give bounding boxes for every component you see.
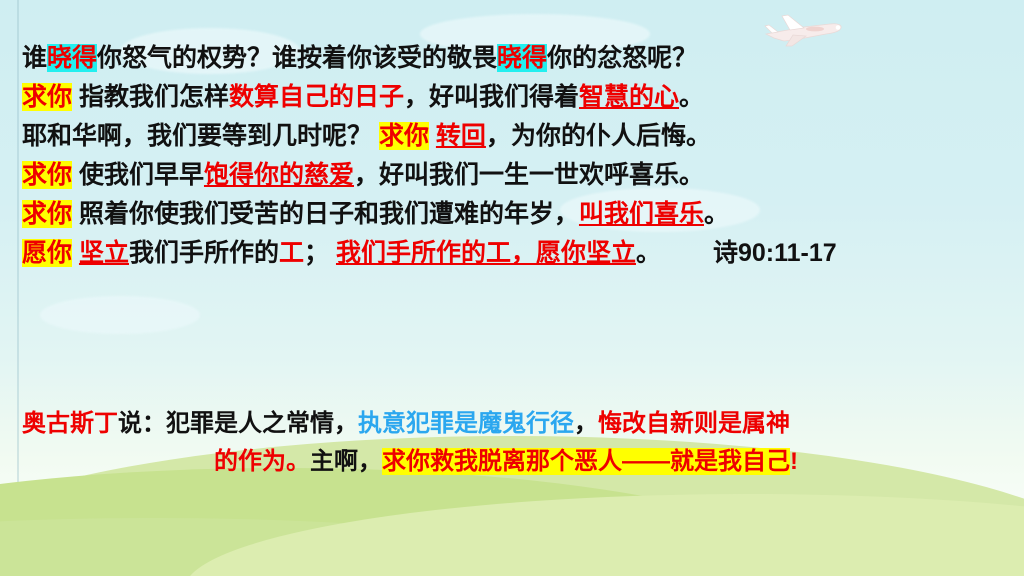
text-run: 叫我们喜乐 xyxy=(579,200,704,228)
scripture-line: 耶和华啊，我们要等到几时呢？ 求你 转回，为你的仆人后悔。 xyxy=(22,124,1012,149)
text-run: 使我们早早 xyxy=(72,161,204,189)
text-run: 悔改自新则是属神 xyxy=(598,410,790,437)
scripture-line-runs: 愿你 坚立我们手所作的工； 我们手所作的工，愿你坚立。 xyxy=(22,239,661,267)
scripture-line: 求你 使我们早早饱得你的慈爱，好叫我们一生一世欢呼喜乐。 xyxy=(22,163,1012,188)
text-run: 坚立 xyxy=(79,239,129,267)
text-run: 奥古斯丁 xyxy=(22,410,118,437)
text-run: ，为你的仆人后悔。 xyxy=(486,122,711,150)
slide-left-accent-bar xyxy=(17,0,19,510)
text-run: 饱得你的慈爱 xyxy=(204,161,354,189)
quote-text-block: 奥古斯丁说：犯罪是人之常情，执意犯罪是魔鬼行径，悔改自新则是属神 的作为。主啊，… xyxy=(22,412,1012,488)
text-run: ； xyxy=(304,239,336,267)
text-run: 求你 xyxy=(22,83,72,111)
text-run: ! xyxy=(790,448,798,475)
text-run: 求你 xyxy=(379,122,429,150)
scripture-line: 谁晓得你怒气的权势？谁按着你该受的敬畏晓得你的忿怒呢？ xyxy=(22,46,1012,71)
text-run: 工 xyxy=(279,239,304,267)
scripture-text-block: 谁晓得你怒气的权势？谁按着你该受的敬畏晓得你的忿怒呢？ 求你 指教我们怎样数算自… xyxy=(22,46,1012,266)
text-run: 你怒气的权势？谁按着你该受的敬畏 xyxy=(97,44,497,72)
scripture-reference: 诗90:11-17 xyxy=(713,241,837,266)
text-run: 耶和华啊，我们要等到几时呢？ xyxy=(22,122,379,150)
text-run: 求你 xyxy=(22,161,72,189)
text-run: 我们手所作的工，愿你坚立 xyxy=(336,239,636,267)
text-run: 指教我们怎样 xyxy=(72,83,229,111)
quote-line: 的作为。主啊，求你救我脱离那个恶人——就是我自己! xyxy=(22,450,1012,474)
text-run: ，好叫我们一生一世欢呼喜乐。 xyxy=(354,161,704,189)
text-run: 你的忿怒呢？ xyxy=(547,44,697,72)
presentation-slide: 谁晓得你怒气的权势？谁按着你该受的敬畏晓得你的忿怒呢？ 求你 指教我们怎样数算自… xyxy=(0,0,1024,576)
text-run: 求你 xyxy=(22,200,72,228)
text-run: ，好叫我们得着 xyxy=(404,83,579,111)
text-run: 。 xyxy=(679,83,704,111)
text-run: 智慧的心 xyxy=(579,83,679,111)
scripture-line: 求你 照着你使我们受苦的日子和我们遭难的年岁，叫我们喜乐。 xyxy=(22,202,1012,227)
quote-line: 奥古斯丁说：犯罪是人之常情，执意犯罪是魔鬼行径，悔改自新则是属神 xyxy=(22,412,1012,436)
text-run: 执意犯罪是魔鬼行径 xyxy=(358,410,574,437)
text-run: 照着你使我们受苦的日子和我们遭难的年岁， xyxy=(72,200,579,228)
text-run: 主啊， xyxy=(310,448,382,475)
text-run: ， xyxy=(574,410,598,437)
text-run xyxy=(429,122,436,150)
text-run xyxy=(72,239,79,267)
text-run: 晓得 xyxy=(497,44,547,72)
text-run: 晓得 xyxy=(47,44,97,72)
text-run: 谁 xyxy=(22,44,47,72)
text-run: 。 xyxy=(704,200,729,228)
text-run: 愿你 xyxy=(22,239,72,267)
airplane-icon xyxy=(760,10,846,50)
text-run: 说：犯罪是人之常情， xyxy=(118,410,358,437)
text-run: 求你救我脱离那个恶人——就是我自己 xyxy=(382,448,790,475)
text-run: 转回 xyxy=(436,122,486,150)
text-run: 。 xyxy=(636,239,661,267)
cloud-decoration xyxy=(40,296,200,334)
scripture-line: 求你 指教我们怎样数算自己的日子，好叫我们得着智慧的心。 xyxy=(22,85,1012,110)
text-run: 数算自己的日子 xyxy=(229,83,404,111)
text-run: 我们手所作的 xyxy=(129,239,279,267)
text-run: 的作为。 xyxy=(214,448,310,475)
scripture-line: 愿你 坚立我们手所作的工； 我们手所作的工，愿你坚立。诗90:11-17 xyxy=(22,241,1012,266)
